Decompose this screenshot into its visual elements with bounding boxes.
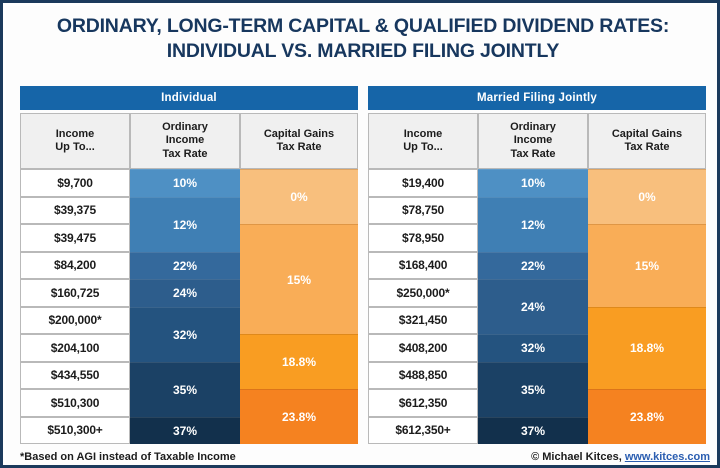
column-header-capital-gains: Capital Gains Tax Rate [240,113,358,169]
ordinary-rate-cell: 22% [130,252,240,280]
ordinary-rate-cell: 12% [478,197,588,252]
income-cell: $160,725 [20,279,130,307]
income-cell: $488,850 [368,362,478,390]
ordinary-rate-cell: 24% [478,279,588,334]
column-header-ordinary-line-2: Income [166,134,205,146]
income-cell: $510,300+ [20,417,130,445]
column-header-income: Income Up To... [20,113,130,169]
income-cell: $434,550 [20,362,130,390]
column-header-ordinary-line-3: Tax Rate [162,148,207,160]
capital-gains-rate-cell: 0% [588,169,706,224]
ordinary-rate-cell: 32% [130,307,240,362]
column-header-income-line-1: Income [404,128,443,140]
column-header-capgains-line-1: Capital Gains [264,128,334,140]
table-individual-header: Individual [20,86,358,110]
capital-gains-rate-cell: 15% [240,224,358,334]
column-header-income-line-1: Income [56,128,95,140]
credit: © Michael Kitces, www.kitces.com [531,451,710,463]
income-cell: $612,350+ [368,417,478,445]
capital-gains-rate-cell: 0% [240,169,358,224]
income-cell: $19,400 [368,169,478,197]
page-title: ORDINARY, LONG-TERM CAPITAL & QUALIFIED … [6,14,720,64]
column-header-income: Income Up To... [368,113,478,169]
column-header-ordinary-line-1: Ordinary [510,121,556,133]
column-header-ordinary-rate: Ordinary Income Tax Rate [130,113,240,169]
income-cell: $612,350 [368,389,478,417]
capital-gains-rate-cell: 18.8% [588,307,706,390]
income-cell: $200,000* [20,307,130,335]
income-cell: $78,950 [368,224,478,252]
income-cell: $9,700 [20,169,130,197]
ordinary-rate-cell: 10% [130,169,240,197]
table-married-filing-jointly: Married Filing Jointly Income Up To... O… [368,86,706,448]
column-header-ordinary-line-3: Tax Rate [510,148,555,160]
ordinary-rate-cell: 35% [478,362,588,417]
capital-gains-rate-cell: 15% [588,224,706,307]
income-cell: $39,475 [20,224,130,252]
ordinary-rate-cell: 32% [478,334,588,362]
ordinary-rate-cell: 22% [478,252,588,280]
column-header-income-line-2: Up To... [55,141,95,153]
income-cell: $78,750 [368,197,478,225]
column-header-capgains-line-2: Tax Rate [624,141,669,153]
ordinary-rate-cell: 24% [130,279,240,307]
capital-gains-rate-cell: 23.8% [240,389,358,444]
ordinary-rate-cell: 10% [478,169,588,197]
capital-gains-rate-cell: 23.8% [588,389,706,444]
column-header-income-line-2: Up To... [403,141,443,153]
ordinary-rate-cell: 37% [478,417,588,445]
income-cell: $39,375 [20,197,130,225]
infographic-canvas: ORDINARY, LONG-TERM CAPITAL & QUALIFIED … [6,6,720,468]
income-cell: $250,000* [368,279,478,307]
ordinary-rate-cell: 35% [130,362,240,417]
income-cell: $84,200 [20,252,130,280]
table-married-body: $19,400$78,750$78,950$168,400$250,000*$3… [368,169,706,444]
income-cell: $510,300 [20,389,130,417]
credit-owner: © Michael Kitces, [531,451,622,463]
capital-gains-rate-cell: 18.8% [240,334,358,389]
ordinary-rate-cell: 12% [130,197,240,252]
column-header-ordinary-line-2: Income [514,134,553,146]
table-married-column-headers: Income Up To... Ordinary Income Tax Rate… [368,113,706,169]
income-cell: $408,200 [368,334,478,362]
infographic-frame: ORDINARY, LONG-TERM CAPITAL & QUALIFIED … [0,0,720,468]
income-cell: $321,450 [368,307,478,335]
credit-website-link[interactable]: www.kitces.com [625,451,710,463]
page-title-line-1: ORDINARY, LONG-TERM CAPITAL & QUALIFIED … [6,14,720,39]
income-cell: $168,400 [368,252,478,280]
footnote: *Based on AGI instead of Taxable Income [20,451,236,463]
column-header-ordinary-rate: Ordinary Income Tax Rate [478,113,588,169]
table-married-header: Married Filing Jointly [368,86,706,110]
table-individual-body: $9,700$39,375$39,475$84,200$160,725$200,… [20,169,358,444]
column-header-capgains-line-1: Capital Gains [612,128,682,140]
column-header-capital-gains: Capital Gains Tax Rate [588,113,706,169]
ordinary-rate-cell: 37% [130,417,240,445]
column-header-ordinary-line-1: Ordinary [162,121,208,133]
table-individual: Individual Income Up To... Ordinary Inco… [20,86,358,448]
table-individual-column-headers: Income Up To... Ordinary Income Tax Rate… [20,113,358,169]
column-header-capgains-line-2: Tax Rate [276,141,321,153]
income-cell: $204,100 [20,334,130,362]
page-title-line-2: INDIVIDUAL VS. MARRIED FILING JOINTLY [6,39,720,64]
